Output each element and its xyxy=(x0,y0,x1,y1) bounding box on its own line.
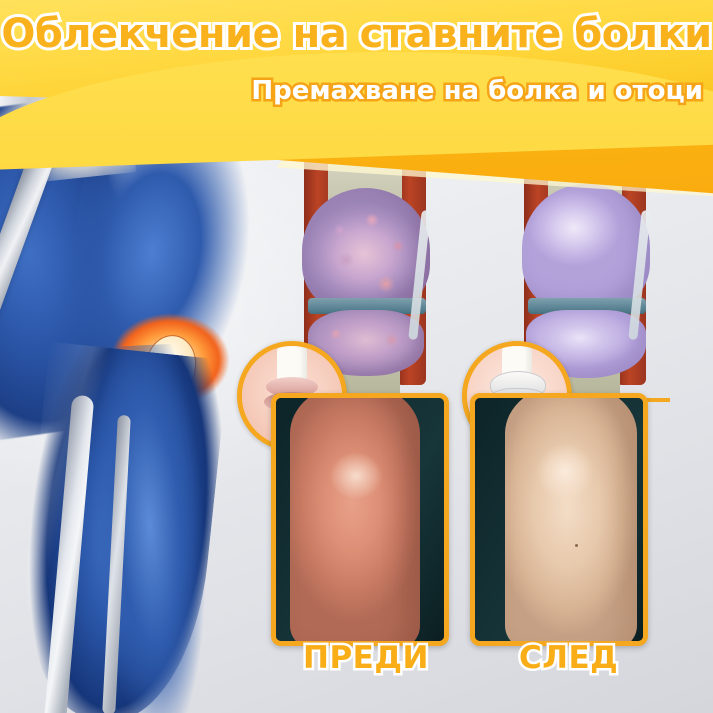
upper-bone-healthy xyxy=(502,342,532,394)
femoral-condyle-inflamed xyxy=(302,188,430,313)
upper-bone-damaged xyxy=(277,342,307,394)
femoral-condyle-healthy xyxy=(522,184,650,312)
photo-card-after xyxy=(470,393,648,646)
page-subtitle: Премахване на болка и отоци xyxy=(251,78,703,104)
ad-canvas: ПРЕДИ СЛЕД Облекчение на ставните болки … xyxy=(0,0,713,713)
page-title: Облекчение на ставните болки xyxy=(0,14,713,54)
caption-before: ПРЕДИ xyxy=(303,643,429,674)
photo-card-before xyxy=(271,393,449,646)
caption-after: СЛЕД xyxy=(519,643,618,674)
knee-photo-before xyxy=(290,393,420,646)
knee-photo-after xyxy=(505,393,637,646)
